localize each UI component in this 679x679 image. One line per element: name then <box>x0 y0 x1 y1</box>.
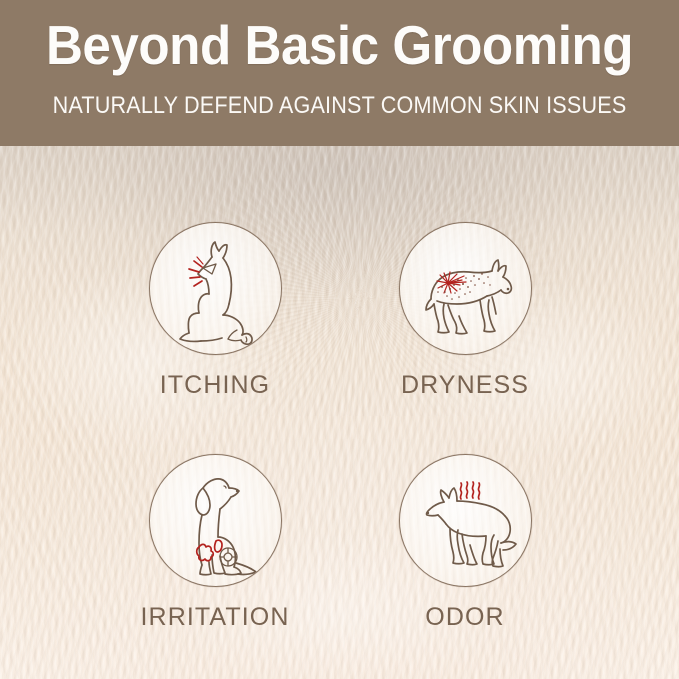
page-subtitle: NATURALLY DEFEND AGAINST COMMON SKIN ISS… <box>34 92 645 120</box>
header-banner: Beyond Basic Grooming NATURALLY DEFEND A… <box>0 0 679 146</box>
feature-label: ODOR <box>365 602 565 632</box>
feature-label: IRRITATION <box>115 602 315 632</box>
dog-irritated-patches-icon <box>150 455 281 586</box>
dog-odor-icon <box>400 455 531 586</box>
feature-item-irritation[interactable]: IRRITATION <box>115 454 315 632</box>
feature-label: DRYNESS <box>365 370 565 400</box>
dog-dry-flaky-skin-icon <box>400 223 531 354</box>
page-title: Beyond Basic Grooming <box>24 14 655 76</box>
poster: Beyond Basic Grooming NATURALLY DEFEND A… <box>0 0 679 679</box>
feature-icon-disc <box>399 454 532 587</box>
feature-item-odor[interactable]: ODOR <box>365 454 565 632</box>
feature-label: ITCHING <box>115 370 315 400</box>
feature-icon-disc <box>399 222 532 355</box>
feature-grid: ITCHING <box>0 146 679 679</box>
feature-item-itching[interactable]: ITCHING <box>115 222 315 400</box>
feature-icon-disc <box>149 454 282 587</box>
feature-icon-disc <box>149 222 282 355</box>
dog-scratching-icon <box>150 223 281 354</box>
feature-item-dryness[interactable]: DRYNESS <box>365 222 565 400</box>
